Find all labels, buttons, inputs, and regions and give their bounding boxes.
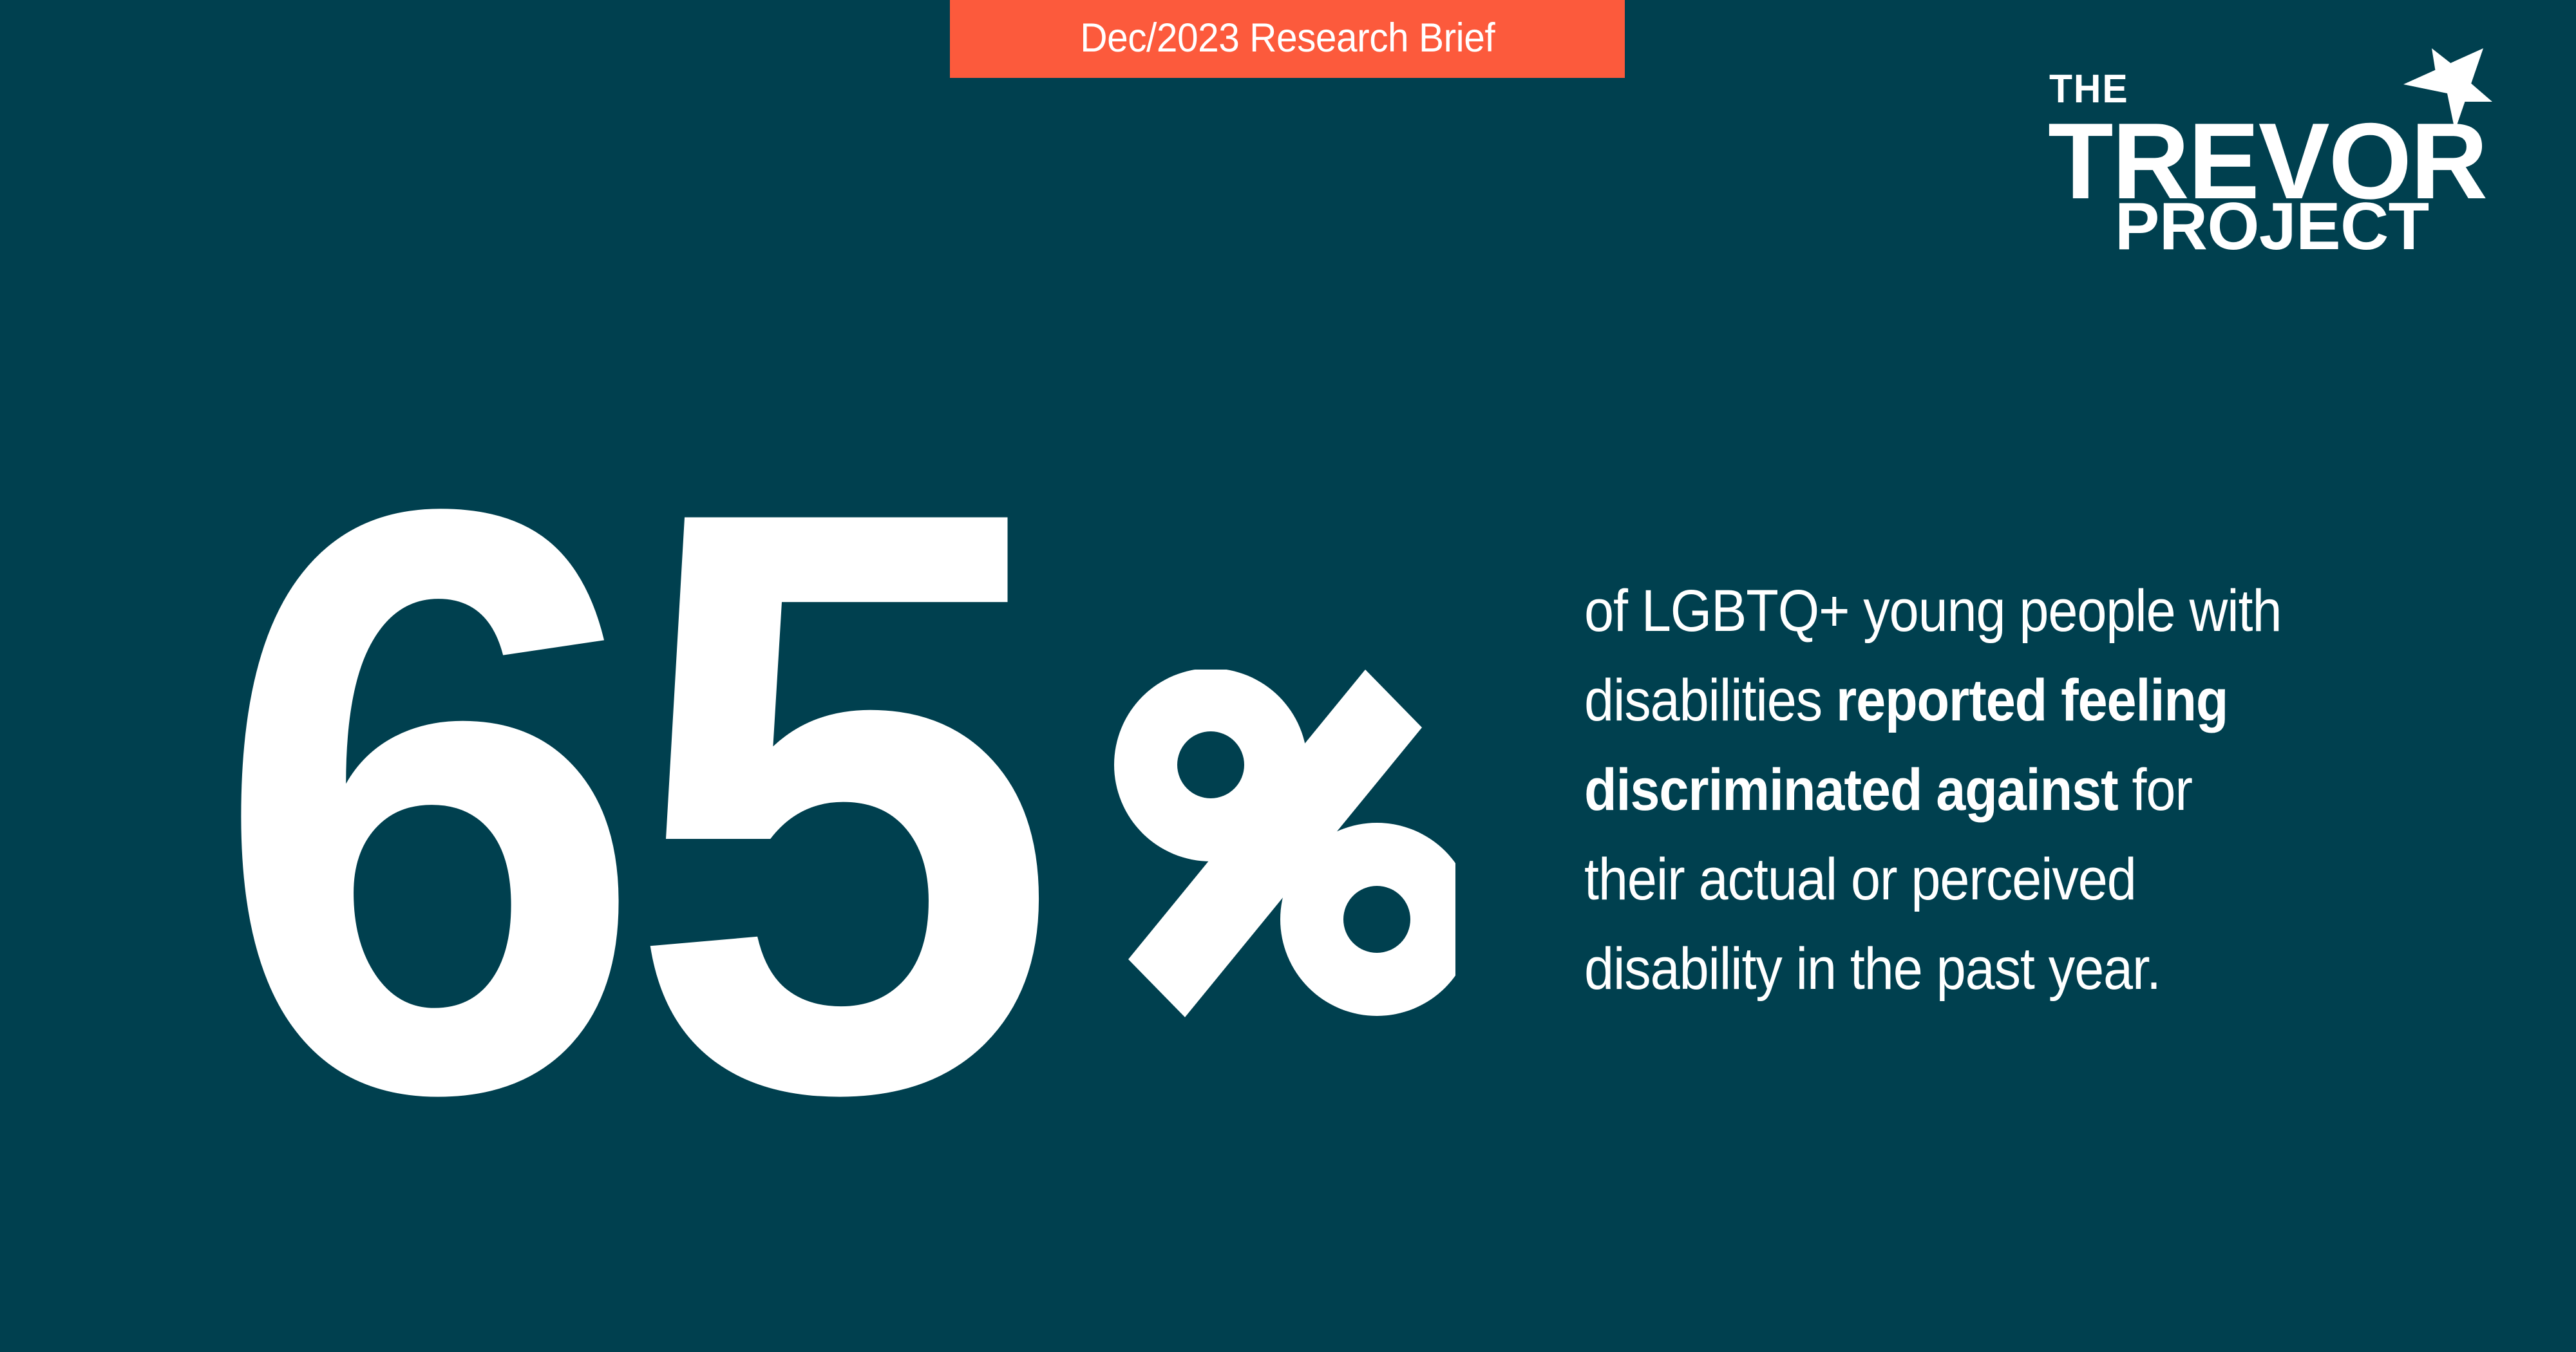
copy-line: of LGBTQ+ young people with	[1584, 567, 2349, 656]
copy-text-bold: discriminated against	[1584, 757, 2118, 823]
percent-symbol-icon	[1095, 670, 1455, 1017]
copy-line: disabilities reported feeling	[1584, 656, 2349, 746]
research-brief-badge: Dec/2023 Research Brief	[950, 0, 1625, 78]
trevor-project-logo: THE TREVOR PROJECT	[2048, 70, 2499, 256]
copy-text-bold: reported feeling	[1836, 668, 2228, 733]
copy-line: their actual or perceived	[1584, 835, 2349, 925]
copy-text-plain: their actual or perceived	[1584, 847, 2136, 912]
statistic-description: of LGBTQ+ young people with disabilities…	[1584, 567, 2434, 1014]
statistic-number: 65	[213, 386, 1040, 1217]
copy-text-plain: disability in the past year.	[1584, 936, 2161, 1002]
infographic-canvas: Dec/2023 Research Brief THE TREVOR PROJE…	[0, 0, 2576, 1352]
copy-text-plain: disabilities	[1584, 668, 1836, 733]
copy-text-plain: for	[2118, 757, 2192, 823]
badge-label: Dec/2023 Research Brief	[1080, 18, 1495, 59]
copy-line: discriminated against for	[1584, 746, 2349, 835]
copy-line: disability in the past year.	[1584, 925, 2349, 1014]
statistic-block: 65	[213, 386, 1468, 1037]
logo-line-project: PROJECT	[2115, 193, 2429, 260]
copy-text-plain: of LGBTQ+ young people with	[1584, 578, 2281, 644]
